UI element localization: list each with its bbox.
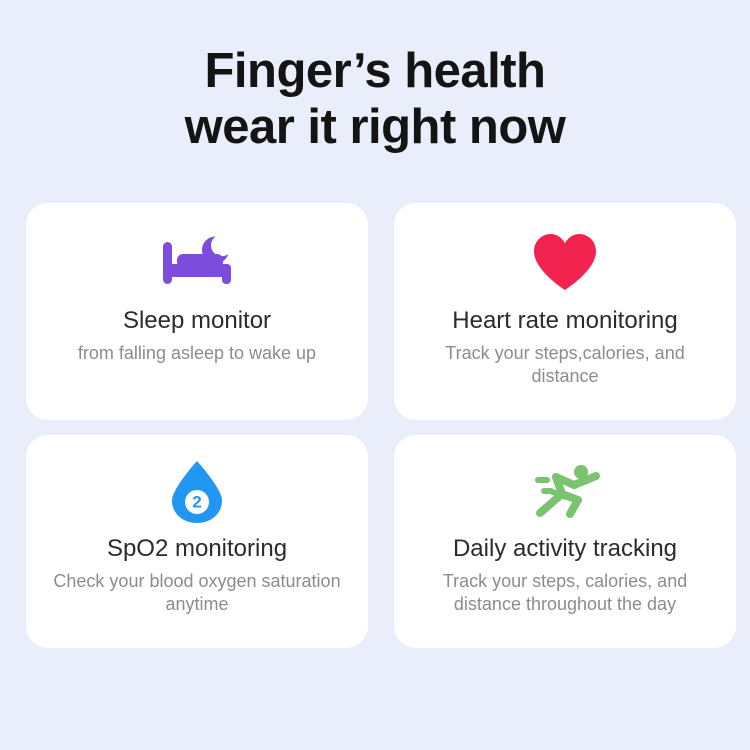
feature-card-daily-activity[interactable]: Daily activity tracking Track your steps… <box>394 435 736 648</box>
promo-page: Finger’s health wear it right now <box>0 0 750 750</box>
spo2-badge-number: 2 <box>192 492 201 511</box>
card-description: from falling asleep to wake up <box>78 342 316 366</box>
card-description: Track your steps,calories, and distance <box>415 342 715 390</box>
icon-container <box>526 457 604 531</box>
card-title: Daily activity tracking <box>453 535 677 563</box>
card-title: Heart rate monitoring <box>452 307 677 335</box>
feature-card-sleep-monitor[interactable]: Sleep monitor from falling asleep to wak… <box>26 203 368 420</box>
icon-container <box>532 225 598 303</box>
feature-card-heart-rate[interactable]: Heart rate monitoring Track your steps,c… <box>394 203 736 420</box>
page-title: Finger’s health wear it right now <box>0 0 750 156</box>
running-person-icon <box>526 461 604 528</box>
card-title: Sleep monitor <box>123 307 271 335</box>
feature-card-spo2[interactable]: 2 SpO2 monitoring Check your blood oxyge… <box>26 435 368 648</box>
feature-card-grid: Sleep monitor from falling asleep to wak… <box>26 203 736 648</box>
card-description: Check your blood oxygen saturation anyti… <box>47 570 347 618</box>
bed-moon-icon <box>157 234 237 295</box>
card-title: SpO2 monitoring <box>107 535 287 563</box>
water-drop-oxygen-icon: 2 <box>168 459 226 530</box>
page-title-line-2: wear it right now <box>0 100 750 156</box>
icon-container: 2 <box>168 457 226 531</box>
heart-icon <box>532 232 598 297</box>
card-description: Track your steps, calories, and distance… <box>415 570 715 618</box>
icon-container <box>157 225 237 303</box>
page-title-line-1: Finger’s health <box>0 44 750 100</box>
